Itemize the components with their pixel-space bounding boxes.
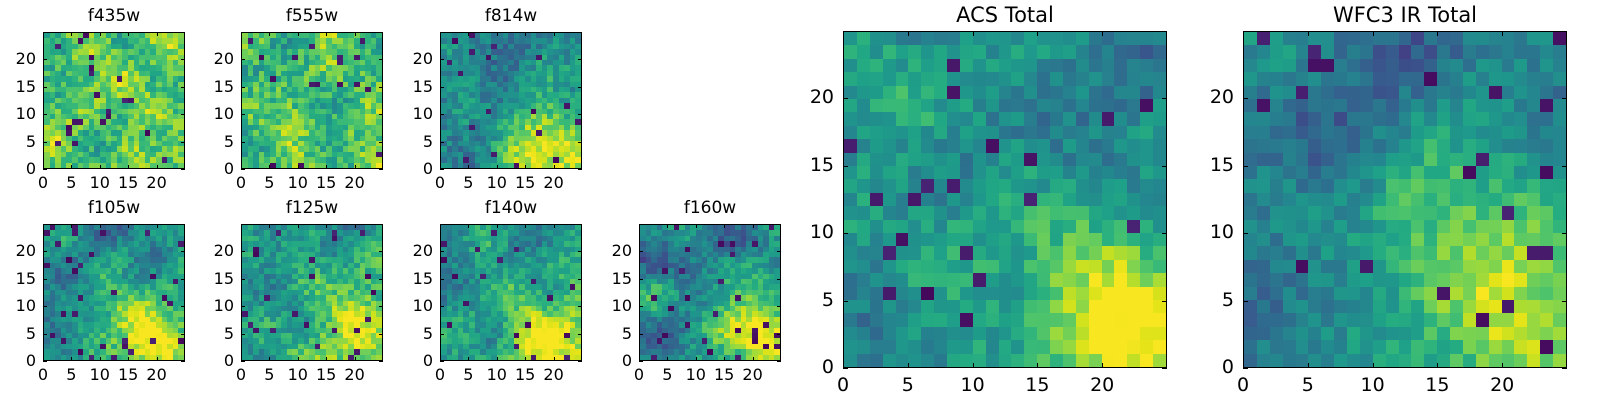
heatmap-cell <box>883 166 896 179</box>
heatmap-cell <box>973 99 986 112</box>
heatmap-f105w <box>43 224 185 361</box>
y-tickmark <box>440 279 444 280</box>
heatmap-cell <box>960 86 973 99</box>
x-tickmark <box>355 165 356 169</box>
heatmap-cell <box>947 86 960 99</box>
y-tickmark <box>440 59 444 60</box>
heatmap-cell <box>1050 220 1063 233</box>
y-tick-label: 0 <box>380 353 433 369</box>
x-tickmark-top <box>241 32 242 36</box>
heatmap-cell <box>999 126 1012 139</box>
heatmap-cell <box>1024 220 1037 233</box>
heatmap-cell <box>908 153 921 166</box>
heatmap-cell <box>908 32 921 45</box>
heatmap-cell <box>1050 153 1063 166</box>
heatmap-cell <box>1063 99 1076 112</box>
y-tickmark <box>241 169 245 170</box>
heatmap-cell <box>1114 206 1127 219</box>
x-tickmark <box>753 357 754 361</box>
heatmap-cell <box>1140 139 1153 152</box>
heatmap-cell <box>883 32 896 45</box>
heatmap-cell <box>1140 220 1153 233</box>
heatmap-cell <box>921 233 934 246</box>
heatmap-cell <box>896 166 909 179</box>
x-tickmark-top <box>554 224 555 228</box>
heatmap-cell <box>857 233 870 246</box>
heatmap-cell <box>999 220 1012 233</box>
heatmap-cell <box>1076 166 1089 179</box>
heatmap-cell <box>1140 45 1153 58</box>
heatmap-cell <box>934 99 947 112</box>
heatmap-cell <box>1102 193 1115 206</box>
heatmap-cell <box>986 220 999 233</box>
heatmap-cell <box>883 72 896 85</box>
heatmap-cell <box>1140 86 1153 99</box>
heatmap-cell <box>1050 112 1063 125</box>
heatmap-cell <box>844 45 857 58</box>
heatmap-cell <box>908 139 921 152</box>
panel-title-acs-total: ACS Total <box>843 5 1167 26</box>
y-tickmark <box>639 251 643 252</box>
x-tick-label: 20 <box>132 367 182 383</box>
y-tick-label: 5 <box>380 326 433 342</box>
heatmap-cell <box>960 166 973 179</box>
y-tickmark-right <box>578 87 582 88</box>
heatmap-cell <box>870 220 883 233</box>
heatmap-cell <box>883 193 896 206</box>
heatmap-cell <box>1037 166 1050 179</box>
y-tickmark-right <box>578 142 582 143</box>
heatmap-cell <box>908 220 921 233</box>
heatmap-cell <box>973 139 986 152</box>
y-tickmark <box>241 279 245 280</box>
heatmap-cell <box>921 139 934 152</box>
heatmap-cell <box>1063 166 1076 179</box>
heatmap-cell <box>934 220 947 233</box>
heatmap-cell <box>1089 86 1102 99</box>
heatmap-cell <box>960 139 973 152</box>
heatmap-cell <box>986 139 999 152</box>
heatmap-cell <box>973 153 986 166</box>
x-tickmark-top <box>100 32 101 36</box>
heatmap-cell <box>934 72 947 85</box>
heatmap-cell <box>1037 45 1050 58</box>
heatmap-cell <box>908 233 921 246</box>
y-tick-label: 20 <box>579 243 632 259</box>
y-tickmark <box>43 142 47 143</box>
heatmap-cell <box>1024 86 1037 99</box>
y-tick-label: 15 <box>0 79 36 95</box>
heatmap-cell <box>960 153 973 166</box>
heatmap-cell <box>1037 59 1050 72</box>
heatmap-cell <box>1011 179 1024 192</box>
heatmap-cell <box>986 153 999 166</box>
heatmap-cell <box>1037 86 1050 99</box>
x-tickmark <box>71 165 72 169</box>
heatmap-cell <box>857 153 870 166</box>
heatmap-cell <box>1024 32 1037 45</box>
x-tickmark-top <box>440 224 441 228</box>
x-tickmark-top <box>355 32 356 36</box>
heatmap-cell <box>1102 86 1115 99</box>
heatmap-cell <box>1153 86 1166 99</box>
heatmap-cell <box>1127 139 1140 152</box>
heatmap-cell <box>960 126 973 139</box>
heatmap-cell <box>1024 139 1037 152</box>
heatmap-cell <box>870 179 883 192</box>
heatmap-cell <box>1114 139 1127 152</box>
heatmap-cell <box>947 139 960 152</box>
heatmap-cell <box>921 112 934 125</box>
heatmap-cell <box>844 153 857 166</box>
heatmap-cell <box>1050 139 1063 152</box>
y-tick-label: 5 <box>0 134 36 150</box>
heatmap-cell <box>1011 139 1024 152</box>
heatmap-cell <box>999 99 1012 112</box>
heatmap-cell <box>870 206 883 219</box>
panel-f140w: f140w0055101015152020 <box>380 196 612 393</box>
heatmap-grid <box>844 32 1166 367</box>
heatmap-cell <box>960 112 973 125</box>
x-tickmark <box>298 165 299 169</box>
x-tickmark-top <box>326 32 327 36</box>
heatmap-cell <box>973 59 986 72</box>
heatmap-cell <box>1140 99 1153 112</box>
heatmap-cell <box>1153 112 1166 125</box>
heatmap-cell <box>1153 193 1166 206</box>
heatmap-cell <box>1102 112 1115 125</box>
heatmap-cell <box>908 45 921 58</box>
heatmap-cell <box>1153 220 1166 233</box>
x-tickmark <box>554 165 555 169</box>
y-tickmark <box>639 334 643 335</box>
x-tick-label: 20 <box>330 367 380 383</box>
heatmap-cell <box>883 139 896 152</box>
heatmap-cell <box>896 112 909 125</box>
heatmap-cell <box>934 112 947 125</box>
heatmap-cell <box>1089 72 1102 85</box>
heatmap-cell <box>934 86 947 99</box>
heatmap-cell <box>857 220 870 233</box>
heatmap-cell <box>973 206 986 219</box>
x-tickmark <box>497 165 498 169</box>
heatmap-cell <box>1037 153 1050 166</box>
heatmap-cell <box>921 220 934 233</box>
heatmap-cell <box>934 126 947 139</box>
heatmap-cell <box>1076 220 1089 233</box>
heatmap-cell <box>1011 126 1024 139</box>
heatmap-cell <box>896 72 909 85</box>
heatmap-cell <box>908 112 921 125</box>
heatmap-cell <box>947 112 960 125</box>
heatmap-cell <box>1024 193 1037 206</box>
heatmap-cell <box>934 179 947 192</box>
heatmap-cell <box>1037 220 1050 233</box>
heatmap-cell <box>1153 206 1166 219</box>
heatmap-cell <box>1140 193 1153 206</box>
heatmap-cell <box>934 166 947 179</box>
heatmap-cell <box>986 112 999 125</box>
heatmap-cell <box>1076 99 1089 112</box>
heatmap-cell <box>1011 220 1024 233</box>
y-tickmark <box>43 361 47 362</box>
heatmap-cell <box>857 32 870 45</box>
heatmap-cell <box>1102 72 1115 85</box>
heatmap-cell <box>883 153 896 166</box>
heatmap-cell <box>857 166 870 179</box>
heatmap-cell <box>999 59 1012 72</box>
y-tickmark <box>440 87 444 88</box>
heatmap-cell <box>999 166 1012 179</box>
heatmap-cell <box>999 179 1012 192</box>
heatmap-cell <box>973 112 986 125</box>
y-tickmark <box>440 169 444 170</box>
x-tickmark <box>128 165 129 169</box>
y-tick-label: 20 <box>181 243 234 259</box>
heatmap-cell <box>774 355 780 360</box>
x-tick-label: 20 <box>330 175 380 191</box>
heatmap-cell <box>908 193 921 206</box>
x-tickmark-top <box>241 224 242 228</box>
heatmap-cell <box>960 59 973 72</box>
heatmap-cell <box>1089 59 1102 72</box>
heatmap-cell <box>999 32 1012 45</box>
heatmap-cell <box>1089 99 1102 112</box>
panel-title-f105w: f105w <box>43 200 185 217</box>
heatmap-cell <box>1089 193 1102 206</box>
y-tick-label: 10 <box>579 298 632 314</box>
heatmap-cell <box>921 99 934 112</box>
heatmap-cell <box>896 193 909 206</box>
heatmap-cell <box>844 126 857 139</box>
heatmap-cell <box>999 139 1012 152</box>
heatmap-cell <box>1063 139 1076 152</box>
heatmap-cell <box>921 72 934 85</box>
heatmap-cell <box>1063 72 1076 85</box>
x-tickmark <box>157 357 158 361</box>
heatmap-cell <box>1127 99 1140 112</box>
heatmap-cell <box>1089 45 1102 58</box>
y-tickmark <box>43 114 47 115</box>
heatmap-cell <box>870 166 883 179</box>
heatmap-cell <box>960 45 973 58</box>
heatmap-cell <box>921 32 934 45</box>
heatmap-cell <box>1037 72 1050 85</box>
heatmap-cell <box>1011 153 1024 166</box>
heatmap-cell <box>1102 45 1115 58</box>
y-tickmark <box>241 87 245 88</box>
heatmap-cell <box>1089 166 1102 179</box>
panel-title-f125w: f125w <box>241 200 383 217</box>
heatmap-cell <box>1076 59 1089 72</box>
heatmap-cell <box>1024 72 1037 85</box>
heatmap-cell <box>1011 112 1024 125</box>
heatmap-cell <box>1050 166 1063 179</box>
x-tick-label: 20 <box>529 367 579 383</box>
heatmap-cell <box>1102 206 1115 219</box>
heatmap-cell <box>857 59 870 72</box>
heatmap-cell <box>947 179 960 192</box>
heatmap-cell <box>870 139 883 152</box>
y-tick-label: 0 <box>0 353 36 369</box>
heatmap-cell <box>1050 179 1063 192</box>
y-tick-label: 5 <box>181 134 234 150</box>
heatmap-cell <box>844 220 857 233</box>
heatmap-cell <box>883 220 896 233</box>
heatmap-cell <box>1089 179 1102 192</box>
heatmap-cell <box>870 153 883 166</box>
heatmap-cell <box>986 99 999 112</box>
heatmap-cell <box>960 220 973 233</box>
x-tickmark-top <box>269 224 270 228</box>
heatmap-cell <box>575 163 581 168</box>
heatmap-cell <box>1102 59 1115 72</box>
heatmap-cell <box>883 233 896 246</box>
heatmap-cell <box>1114 45 1127 58</box>
heatmap-cell <box>1011 193 1024 206</box>
y-tick-label: 15 <box>380 271 433 287</box>
heatmap-cell <box>883 45 896 58</box>
panel-f160w: f160w0055101015152020 <box>579 196 811 393</box>
y-tick-label: 0 <box>579 353 632 369</box>
y-tickmark-right <box>777 279 781 280</box>
y-tickmark <box>241 361 245 362</box>
heatmap-cell <box>870 86 883 99</box>
x-tickmark-top <box>525 32 526 36</box>
heatmap-cell <box>921 166 934 179</box>
x-tickmark-top <box>639 224 640 228</box>
y-tick-label: 10 <box>0 106 36 122</box>
heatmap-cell <box>986 166 999 179</box>
heatmap-cell <box>947 206 960 219</box>
x-tickmark-top <box>128 32 129 36</box>
heatmap-cell <box>921 206 934 219</box>
heatmap-cell <box>934 153 947 166</box>
heatmap-cell <box>1127 193 1140 206</box>
heatmap-cell <box>844 72 857 85</box>
y-tick-label: 20 <box>0 51 36 67</box>
heatmap-cell <box>908 206 921 219</box>
heatmap-cell <box>1063 32 1076 45</box>
heatmap-cell <box>883 99 896 112</box>
heatmap-cell <box>999 193 1012 206</box>
y-tickmark <box>440 142 444 143</box>
heatmap-cell <box>908 59 921 72</box>
y-tickmark <box>241 59 245 60</box>
heatmap-cell <box>1037 206 1050 219</box>
heatmap-cell <box>1153 139 1166 152</box>
heatmap-cell <box>999 153 1012 166</box>
heatmap-cell <box>960 72 973 85</box>
y-tickmark <box>639 361 643 362</box>
heatmap-cell <box>844 206 857 219</box>
heatmap-cell <box>1140 179 1153 192</box>
y-tick-label: 10 <box>380 106 433 122</box>
heatmap-cell <box>1140 59 1153 72</box>
heatmap-cell <box>857 126 870 139</box>
heatmap-cell <box>1089 206 1102 219</box>
x-tickmark-top <box>43 32 44 36</box>
heatmap-cell <box>844 166 857 179</box>
heatmap-cell <box>857 86 870 99</box>
heatmap-grid <box>441 33 581 168</box>
heatmap-cell <box>1063 220 1076 233</box>
heatmap-cell <box>896 139 909 152</box>
heatmap-cell <box>1153 45 1166 58</box>
x-tickmark-top <box>71 224 72 228</box>
heatmap-cell <box>1102 99 1115 112</box>
heatmap-cell <box>1127 59 1140 72</box>
y-tick-label: 20 <box>380 51 433 67</box>
heatmap-cell <box>1063 193 1076 206</box>
heatmap-cell <box>947 126 960 139</box>
heatmap-cell <box>870 193 883 206</box>
heatmap-cell <box>844 112 857 125</box>
x-tickmark-top <box>753 224 754 228</box>
y-tickmark-right <box>777 361 781 362</box>
heatmap-cell <box>1089 126 1102 139</box>
heatmap-cell <box>1089 112 1102 125</box>
heatmap-cell <box>999 112 1012 125</box>
x-tickmark-top <box>157 224 158 228</box>
heatmap-cell <box>1037 32 1050 45</box>
heatmap-cell <box>921 45 934 58</box>
panel-title-f814w: f814w <box>440 8 582 25</box>
heatmap-cell <box>844 233 857 246</box>
heatmap-cell <box>1140 112 1153 125</box>
heatmap-cell <box>1127 112 1140 125</box>
heatmap-cell <box>1050 72 1063 85</box>
x-tickmark <box>128 357 129 361</box>
heatmap-cell <box>921 126 934 139</box>
y-tickmark-right <box>777 306 781 307</box>
y-tick-label: 15 <box>0 271 36 287</box>
heatmap-cell <box>973 32 986 45</box>
heatmap-grid <box>441 225 581 360</box>
y-tickmark-right <box>777 334 781 335</box>
x-tickmark-top <box>468 32 469 36</box>
heatmap-cell <box>1127 220 1140 233</box>
heatmap-cell <box>1127 72 1140 85</box>
heatmap-cell <box>1140 72 1153 85</box>
heatmap-cell <box>1063 206 1076 219</box>
x-tick-label: 20 <box>529 175 579 191</box>
heatmap-f140w <box>440 224 582 361</box>
x-tickmark-top <box>440 32 441 36</box>
heatmap-cell <box>1114 112 1127 125</box>
y-tick-label: 10 <box>181 106 234 122</box>
y-tickmark <box>440 334 444 335</box>
heatmap-cell <box>947 220 960 233</box>
heatmap-cell <box>960 99 973 112</box>
y-tick-label: 0 <box>181 353 234 369</box>
heatmap-cell <box>896 32 909 45</box>
x-tickmark <box>497 357 498 361</box>
heatmap-cell <box>1102 32 1115 45</box>
heatmap-grid <box>242 225 382 360</box>
heatmap-cell <box>1102 153 1115 166</box>
x-tickmark-top <box>157 32 158 36</box>
heatmap-cell <box>857 139 870 152</box>
heatmap-cell <box>934 45 947 58</box>
heatmap-cell <box>973 45 986 58</box>
heatmap-cell <box>1127 32 1140 45</box>
heatmap-cell <box>844 32 857 45</box>
heatmap-cell <box>1037 112 1050 125</box>
heatmap-cell <box>908 179 921 192</box>
x-tickmark-top <box>298 224 299 228</box>
heatmap-cell <box>896 45 909 58</box>
